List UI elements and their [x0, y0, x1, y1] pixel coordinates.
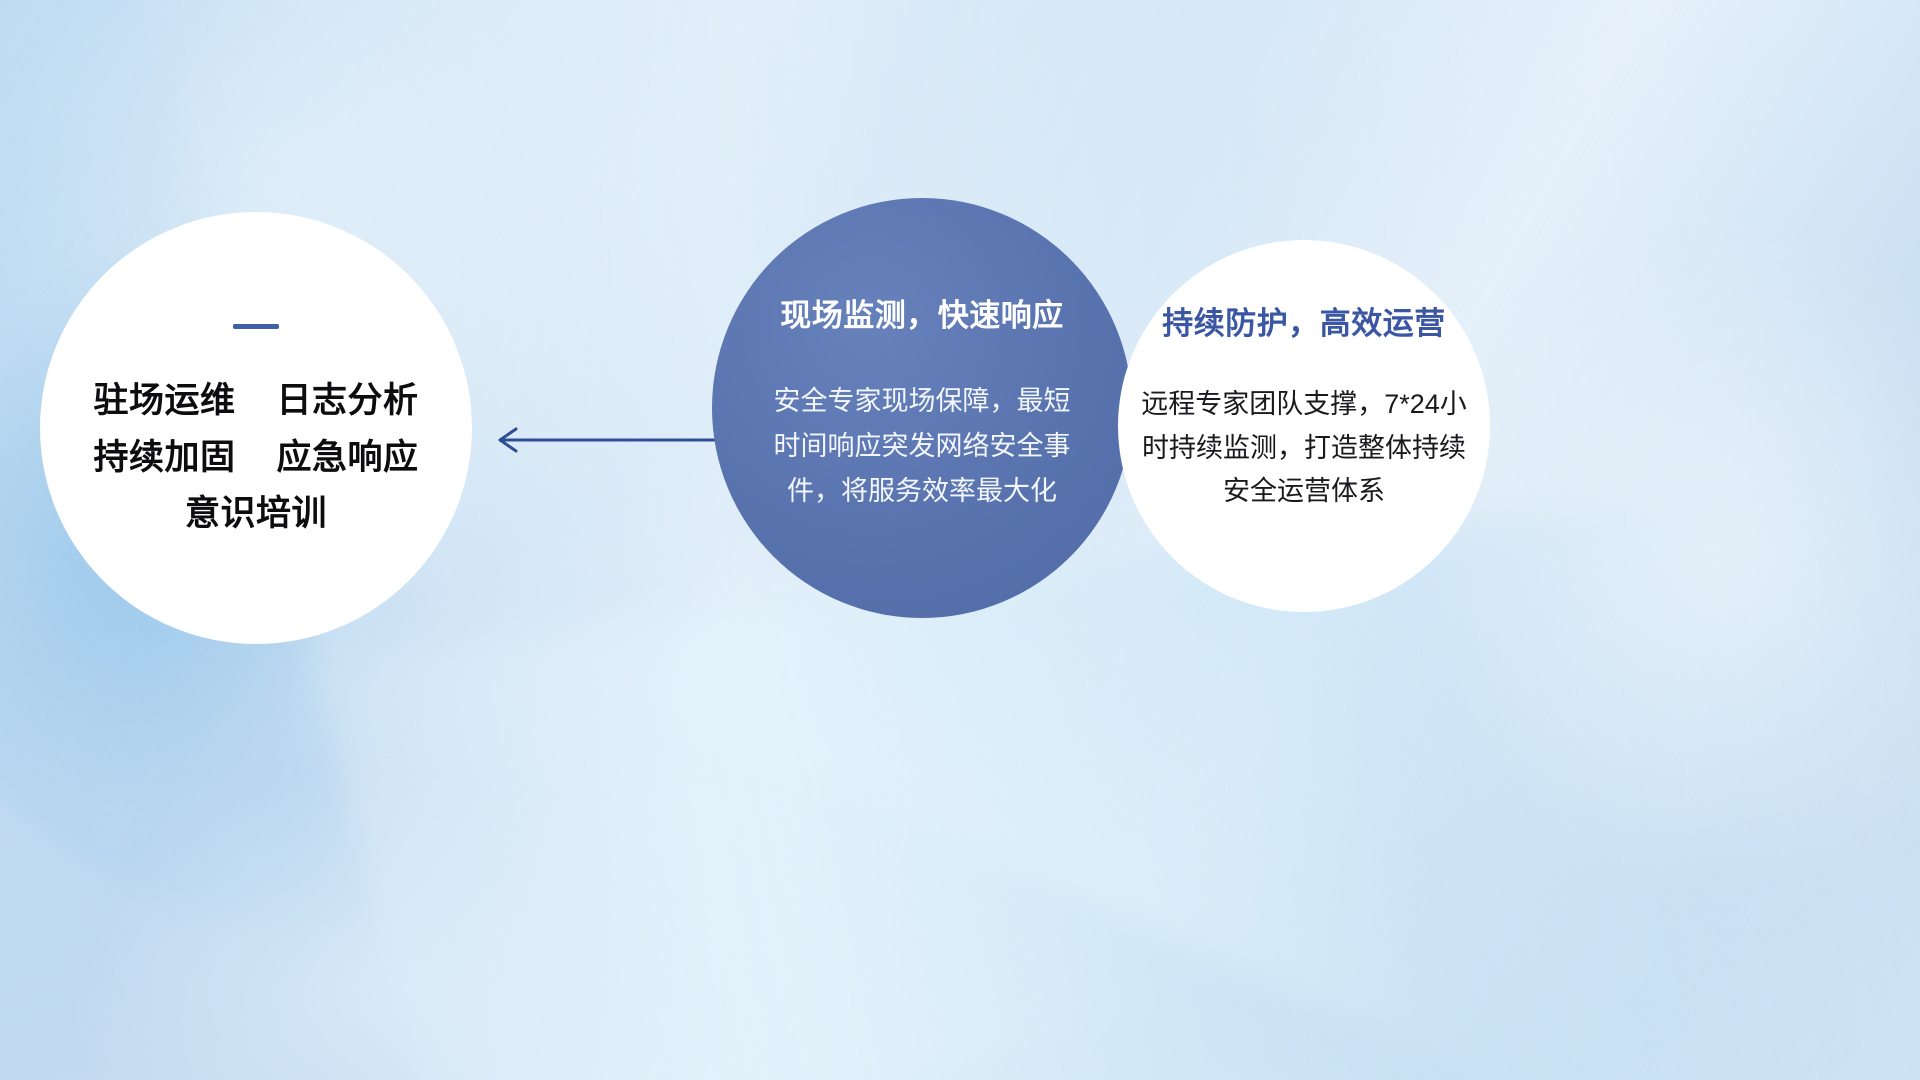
right-circle-body: 远程专家团队支撑，7*24小时持续监测，打造整体持续安全运营体系 [1132, 383, 1476, 514]
right-operations-circle: 持续防护，高效运营 远程专家团队支撑，7*24小时持续监测，打造整体持续安全运营… [1118, 240, 1490, 612]
left-capability-line: 意识培训 [94, 486, 419, 543]
middle-circle-body: 安全专家现场保障，最短时间响应突发网络安全事件，将服务效率最大化 [772, 379, 1072, 513]
diagram-canvas: 驻场运维 日志分析持续加固 应急响应意识培训 现场监测，快速响应 安全专家现场保… [0, 0, 1920, 1080]
left-capability-list: 驻场运维 日志分析持续加固 应急响应意识培训 [94, 373, 419, 543]
left-capability-line: 持续加固 应急响应 [94, 430, 419, 487]
left-capability-line: 驻场运维 日志分析 [94, 373, 419, 430]
left-capability-circle: 驻场运维 日志分析持续加固 应急响应意识培训 [40, 212, 472, 644]
middle-circle-title: 现场监测，快速响应 [780, 290, 1064, 335]
middle-onsite-circle: 现场监测，快速响应 安全专家现场保障，最短时间响应突发网络安全事件，将服务效率最… [712, 198, 1132, 618]
left-divider-dash [233, 324, 279, 329]
right-circle-title: 持续防护，高效运营 [1162, 298, 1446, 343]
arrow-left-icon [488, 418, 718, 462]
